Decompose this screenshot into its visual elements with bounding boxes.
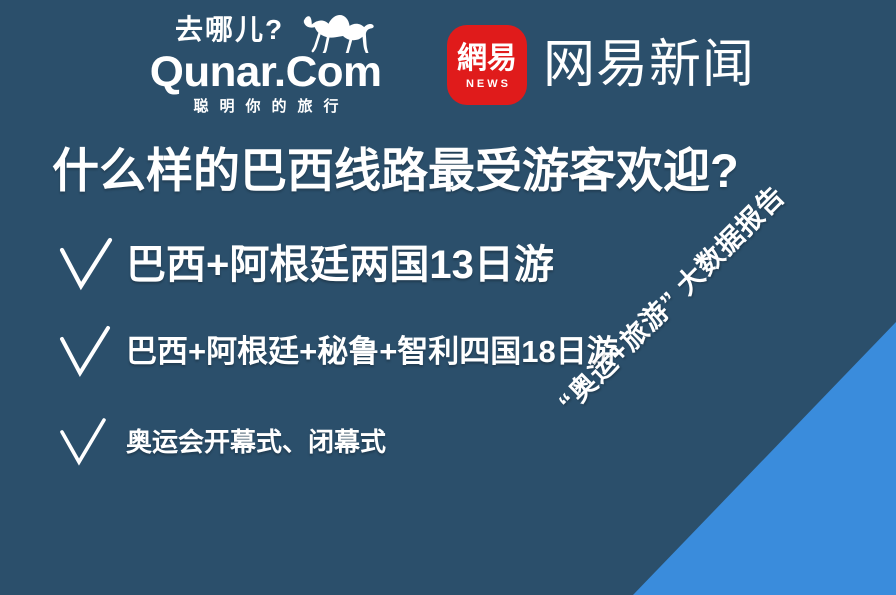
list-item-label: 奥运会开幕式、闭幕式	[126, 426, 386, 458]
qunar-logo: 去哪儿? Qunar.Com 聪明你的旅行	[141, 11, 391, 123]
list-item-label: 巴西+阿根廷两国13日游	[126, 241, 554, 289]
camel-icon	[295, 7, 381, 53]
netease-logo-badge: 網易 NEWS	[447, 25, 527, 105]
page-title: 什么样的巴西线路最受游客欢迎?	[52, 142, 739, 200]
list-item-label: 巴西+阿根廷+秘鲁+智利四国18日游	[126, 333, 618, 371]
list-item: 巴西+阿根廷+秘鲁+智利四国18日游	[56, 314, 856, 390]
route-list: 巴西+阿根廷两国13日游 巴西+阿根廷+秘鲁+智利四国18日游 奥运会开幕式、闭…	[56, 228, 856, 478]
list-item: 奥运会开幕式、闭幕式	[56, 406, 856, 478]
infographic-poster: 去哪儿? Qunar.Com 聪明你的旅行 網易 NEWS 网易新闻 什么样的巴…	[0, 0, 896, 595]
brand-header: 去哪儿? Qunar.Com 聪明你的旅行 網易 NEWS 网易新闻	[0, 8, 896, 126]
check-icon	[56, 322, 116, 382]
qunar-wordmark: Qunar.Com	[150, 50, 382, 94]
list-item: 巴西+阿根廷两国13日游	[56, 228, 856, 302]
qunar-tagline: 聪明你的旅行	[182, 97, 349, 117]
qunar-question-text: 去哪儿?	[175, 13, 284, 47]
check-icon	[56, 414, 112, 470]
netease-logo: 網易 NEWS 网易新闻	[447, 25, 755, 105]
netease-logo-news-text: NEWS	[463, 77, 511, 91]
qunar-logo-top: 去哪儿?	[141, 11, 391, 53]
check-icon	[56, 234, 118, 296]
netease-brand-name: 网易新闻	[543, 37, 755, 93]
netease-logo-characters: 網易	[457, 43, 517, 75]
